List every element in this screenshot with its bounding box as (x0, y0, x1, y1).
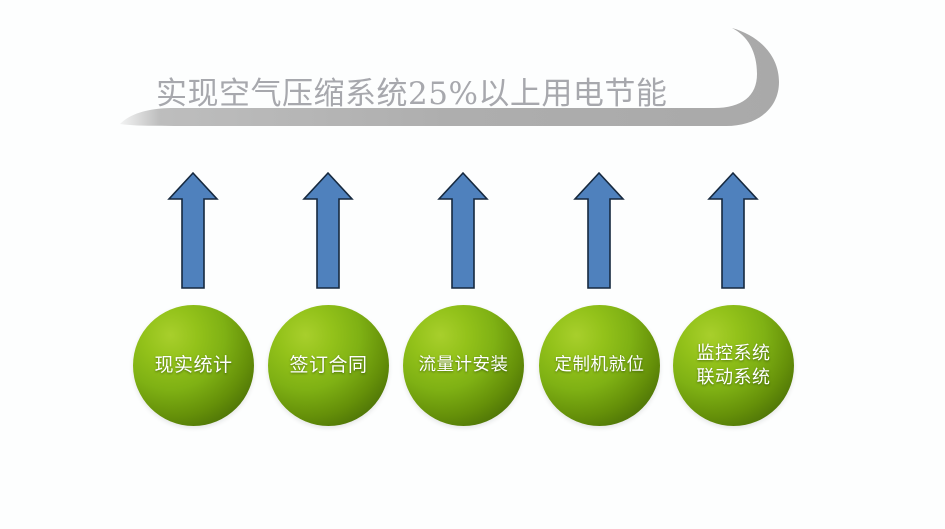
up-arrow-icon-4 (573, 171, 625, 291)
page-title: 实现空气压缩系统25%以上用电节能 (156, 70, 756, 118)
step-circle-3[interactable]: 流量计安装 (403, 305, 524, 426)
step-circle-label-2: 签订合同 (285, 353, 371, 378)
up-arrow-icon-5 (707, 171, 759, 291)
step-circle-2[interactable]: 签订合同 (268, 305, 389, 426)
step-circle-label-1: 现实统计 (150, 353, 236, 378)
step-circle-1[interactable]: 现实统计 (133, 305, 254, 426)
arrow-shape (439, 173, 487, 288)
step-circle-label-3: 流量计安装 (415, 353, 513, 378)
up-arrow-icon-3 (437, 171, 489, 291)
up-arrow-icon-2 (302, 171, 354, 291)
arrow-shape (709, 173, 757, 288)
arrow-shape (304, 173, 352, 288)
step-circle-label-4: 定制机就位 (551, 353, 649, 378)
slide-canvas: 实现空气压缩系统25%以上用电节能 现实统计 签订合同 流量计安装 定制机就位 … (0, 0, 945, 529)
arrow-shape (169, 173, 217, 288)
step-circle-4[interactable]: 定制机就位 (539, 305, 660, 426)
step-circle-5[interactable]: 监控系统 联动系统 (673, 305, 794, 426)
arrow-shape (575, 173, 623, 288)
step-circle-label-5: 监控系统 联动系统 (693, 342, 775, 390)
title-banner: 实现空气压缩系统25%以上用电节能 (118, 26, 790, 138)
up-arrow-icon-1 (167, 171, 219, 291)
